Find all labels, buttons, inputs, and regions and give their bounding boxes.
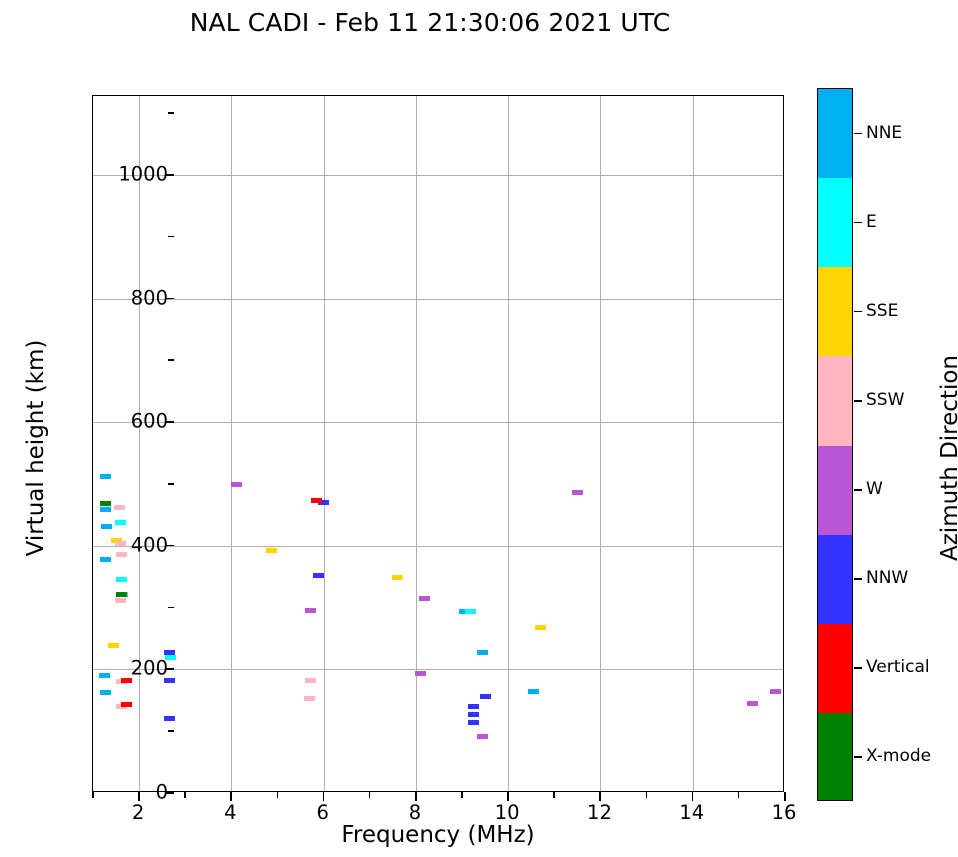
colorbar-label-x-mode: X-mode: [866, 746, 931, 766]
gridline-horizontal: [93, 175, 783, 176]
y-axis-tick-label: 1000: [118, 163, 168, 186]
data-point-vertical: [311, 498, 322, 503]
colorbar-tick: [854, 489, 862, 491]
colorbar-band-sse: [818, 267, 852, 356]
x-axis-tick: [784, 792, 786, 801]
x-axis-tick: [599, 792, 601, 801]
y-axis-tick-label: 0: [156, 781, 168, 804]
data-point-nne: [100, 507, 111, 512]
data-point-nnw: [313, 573, 324, 578]
y-axis-minor-tick: [168, 236, 174, 238]
gridline-vertical: [324, 96, 325, 791]
x-axis-minor-tick: [461, 792, 463, 798]
data-point-nne: [100, 557, 111, 562]
data-point-nnw: [164, 716, 175, 721]
gridline-vertical: [600, 96, 601, 791]
data-point-w: [477, 734, 488, 739]
colorbar-band-vertical: [818, 624, 852, 713]
x-axis-minor-tick: [738, 792, 740, 798]
data-point-ssw: [305, 678, 316, 683]
y-axis-minor-tick: [168, 359, 174, 361]
data-point-ssw: [304, 696, 315, 701]
gridline-vertical: [693, 96, 694, 791]
page-title: NAL CADI - Feb 11 21:30:06 2021 UTC: [0, 8, 860, 37]
data-point-w: [231, 482, 242, 487]
data-point-w: [572, 490, 583, 495]
x-axis-minor-tick: [646, 792, 648, 798]
colorbar-tick: [854, 667, 862, 669]
gridline-horizontal: [93, 669, 783, 670]
colorbar-tick: [854, 311, 862, 313]
data-point-w: [770, 689, 781, 694]
x-axis-tick-label: 6: [316, 801, 328, 824]
x-axis-tick-label: 10: [495, 801, 520, 824]
x-axis-tick: [138, 792, 140, 801]
colorbar-band-x-mode: [818, 713, 852, 801]
y-axis-tick-label: 800: [131, 286, 168, 309]
data-point-nne: [100, 474, 111, 479]
gridline-horizontal: [93, 546, 783, 547]
colorbar-band-nnw: [818, 535, 852, 624]
y-axis-minor-tick: [168, 730, 174, 732]
x-axis-tick-label: 8: [409, 801, 421, 824]
data-point-nne: [101, 524, 112, 529]
data-point-ssw: [115, 541, 126, 546]
data-point-nne: [528, 689, 539, 694]
x-axis-tick-label: 12: [587, 801, 612, 824]
colorbar-label-nnw: NNW: [866, 568, 908, 588]
x-axis-minor-tick: [184, 792, 186, 798]
data-point-sse: [266, 548, 277, 553]
data-point-nnw: [468, 720, 479, 725]
data-point-ssw: [116, 552, 127, 557]
x-axis-tick: [507, 792, 509, 801]
data-point-sse: [535, 625, 546, 630]
x-axis-tick-label: 4: [224, 801, 236, 824]
ionogram-figure: NAL CADI - Feb 11 21:30:06 2021 UTC 0200…: [0, 0, 958, 857]
y-axis-label: Virtual height (km): [23, 198, 49, 698]
x-axis-label: Frequency (MHz): [92, 822, 784, 848]
data-point-w: [305, 608, 316, 613]
colorbar-label-vertical: Vertical: [866, 657, 930, 677]
colorbar-label-nne: NNE: [866, 123, 902, 143]
colorbar: [817, 88, 853, 801]
x-axis-minor-tick: [369, 792, 371, 798]
data-point-nnw: [468, 712, 479, 717]
y-axis-tick-label: 400: [131, 533, 168, 556]
gridline-horizontal: [93, 299, 783, 300]
y-axis-tick-label: 600: [131, 410, 168, 433]
data-point-nnw: [480, 694, 491, 699]
x-axis-tick-label: 2: [132, 801, 144, 824]
colorbar-band-w: [818, 446, 852, 535]
data-point-e: [116, 577, 127, 582]
colorbar-label-e: E: [866, 212, 877, 232]
x-axis-tick: [230, 792, 232, 801]
gridline-vertical: [508, 96, 509, 791]
data-point-ssw: [114, 505, 125, 510]
data-point-nnw: [164, 650, 175, 655]
colorbar-tick: [854, 222, 862, 224]
colorbar-band-nne: [818, 89, 852, 178]
plot-area: [92, 95, 784, 792]
gridline-vertical: [231, 96, 232, 791]
colorbar-tick: [854, 133, 862, 135]
data-point-w: [415, 671, 426, 676]
data-point-ssw: [115, 598, 126, 603]
data-point-nne: [99, 673, 110, 678]
x-axis-minor-tick: [277, 792, 279, 798]
data-point-nne: [100, 690, 111, 695]
data-point-x-mode: [100, 501, 111, 506]
y-axis-tick-label: 200: [131, 657, 168, 680]
x-axis-tick-label: 14: [679, 801, 704, 824]
colorbar-title: Azimuth Direction: [937, 208, 958, 708]
data-point-e: [465, 609, 476, 614]
colorbar-label-sse: SSE: [866, 301, 898, 321]
data-point-vertical: [121, 702, 132, 707]
x-axis-tick: [692, 792, 694, 801]
gridline-horizontal: [93, 422, 783, 423]
colorbar-tick: [854, 578, 862, 580]
x-axis-tick: [323, 792, 325, 801]
data-point-x-mode: [116, 592, 127, 597]
x-axis-tick-label: 16: [772, 801, 797, 824]
colorbar-band-e: [818, 178, 852, 267]
data-point-sse: [392, 575, 403, 580]
x-axis-tick: [415, 792, 417, 801]
gridline-vertical: [416, 96, 417, 791]
gridline-vertical: [139, 96, 140, 791]
x-axis-minor-tick: [92, 792, 94, 798]
data-point-sse: [108, 643, 119, 648]
colorbar-tick: [854, 756, 862, 758]
x-axis-minor-tick: [553, 792, 555, 798]
y-axis-minor-tick: [168, 483, 174, 485]
colorbar-label-ssw: SSW: [866, 390, 904, 410]
colorbar-label-w: W: [866, 479, 883, 499]
colorbar-band-ssw: [818, 356, 852, 445]
data-point-e: [115, 520, 126, 525]
data-point-nnw: [468, 704, 479, 709]
data-point-w: [747, 701, 758, 706]
data-point-nne: [477, 650, 488, 655]
y-axis-minor-tick: [168, 607, 174, 609]
colorbar-tick: [854, 400, 862, 402]
data-point-w: [419, 596, 430, 601]
y-axis-minor-tick: [168, 112, 174, 114]
